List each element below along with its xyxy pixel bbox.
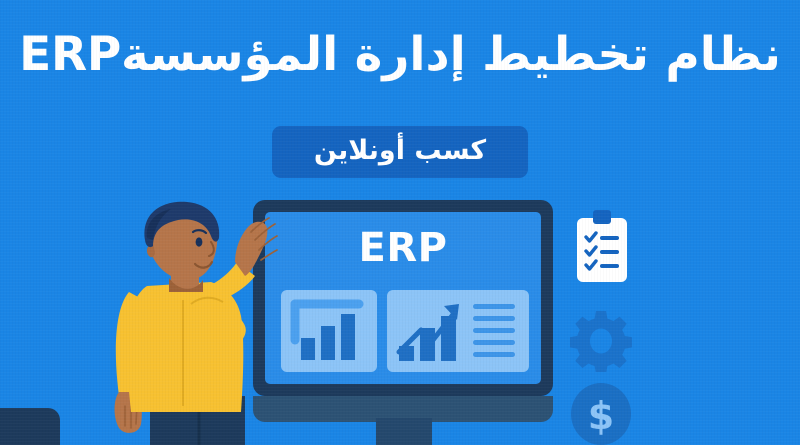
status-badge: كسب أونلاين [272,126,528,178]
gear-icon [570,310,632,372]
corner-accent-shape [0,408,60,445]
page-title: نظام تخطيط إدارة المؤسسةERP [0,28,800,82]
bar-chart-card [281,290,377,372]
presenter-character [95,200,285,445]
clipboard-checklist-icon [575,210,629,284]
badge-container: كسب أونلاين [0,126,800,178]
monitor-stand-neck [376,418,432,445]
monitor-illustration: ERP [253,200,553,445]
dollar-glyph: $ [588,394,614,438]
poster-canvas: نظام تخطيط إدارة المؤسسةERP كسب أونلاين [0,0,800,445]
dollar-coin-icon: $ [569,382,633,445]
monitor-bezel: ERP [253,200,553,396]
monitor-screen: ERP [265,212,541,384]
screen-title-erp: ERP [265,228,541,268]
trend-chart-card [387,290,529,372]
